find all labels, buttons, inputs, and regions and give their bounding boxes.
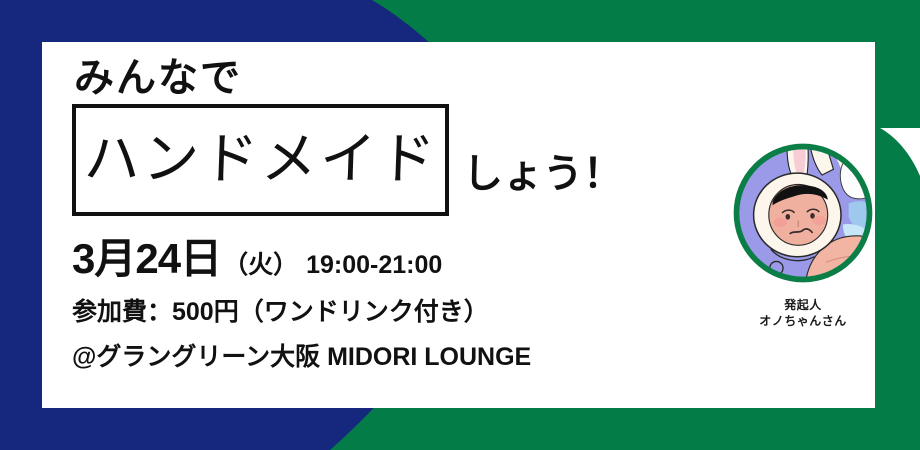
poster-card: みんなで ハンドメイド しょう！ 3月24日 （火） 19:00-21:00 参… [42, 42, 875, 408]
headline-tail: しょう！ [463, 154, 623, 216]
event-date-row: 3月24日 （火） 19:00-21:00 [72, 238, 692, 280]
event-poster: みんなで ハンドメイド しょう！ 3月24日 （火） 19:00-21:00 参… [0, 0, 920, 450]
headline-top: みんなで [74, 58, 692, 98]
headline-boxed-text: ハンドメイド [83, 132, 439, 188]
organizer-caption: 発起人 オノちゃんさん [718, 297, 888, 329]
headline-boxed-frame: ハンドメイド [72, 104, 449, 216]
event-fee: 参加費：500円（ワンドリンク付き） [72, 300, 692, 325]
organizer-avatar-block: 発起人 オノちゃんさん [718, 137, 888, 329]
organizer-name: オノちゃんさん [718, 313, 888, 329]
event-time-range: 19:00-21:00 [306, 253, 442, 278]
organizer-role: 発起人 [718, 297, 888, 313]
event-date-day: 3月24日 [72, 238, 221, 280]
headline-middle-row: ハンドメイド しょう！ [72, 104, 692, 216]
event-venue: @グラングリーン大阪 MIDORI LOUNGE [72, 345, 692, 370]
person-bunny-hood-avatar-icon [727, 137, 879, 289]
poster-text-block: みんなで ハンドメイド しょう！ 3月24日 （火） 19:00-21:00 参… [72, 58, 692, 370]
event-date-weekday: （火） [223, 253, 298, 278]
